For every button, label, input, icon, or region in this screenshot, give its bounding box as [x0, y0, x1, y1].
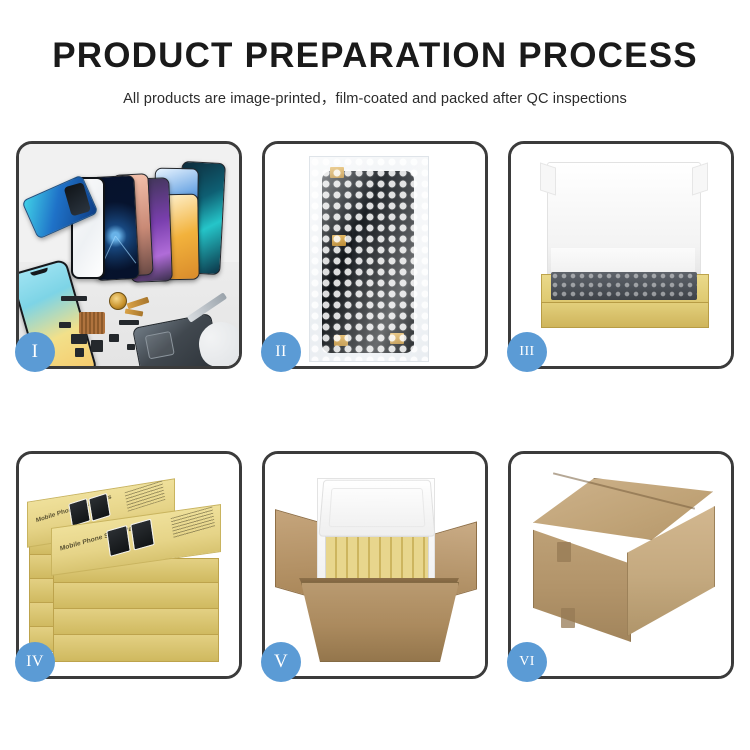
logic-board-part [79, 312, 105, 334]
box-product-image [106, 525, 131, 557]
antenna-strip-part [61, 296, 87, 301]
step-3-image [511, 144, 731, 366]
carton-tape-upper [557, 542, 571, 562]
page-subtitle: All products are image-printed，film-coat… [0, 87, 750, 108]
bubble-wrapped-contents [551, 272, 697, 300]
process-step-6: VI [508, 451, 734, 679]
connector-part [109, 334, 119, 342]
plastic-sheen [310, 157, 428, 361]
step-badge-5: V [261, 642, 301, 682]
kraft-box-front-panel [541, 302, 709, 328]
sim-tray-part [127, 344, 135, 350]
process-step-2: II [262, 141, 488, 369]
step-4-image: Mobile Phone Spare Parts Mobile Phone Sp… [19, 454, 239, 676]
foam-box-lid [318, 480, 435, 537]
step-badge-6: VI [507, 642, 547, 682]
box-edge [53, 608, 219, 636]
camera-module-part [71, 334, 87, 344]
vibration-motor-part [91, 340, 103, 352]
process-step-4: Mobile Phone Spare Parts Mobile Phone Sp… [16, 451, 242, 679]
process-step-3: III [508, 141, 734, 369]
page-header: PRODUCT PREPARATION PROCESS All products… [0, 0, 750, 108]
step-6-image [511, 454, 731, 676]
box-product-image [130, 519, 155, 551]
bubble-wrap-bag [309, 156, 429, 362]
screw-bracket-part [59, 322, 71, 328]
ribbon-part [119, 320, 139, 325]
box-spec-lines [125, 480, 166, 511]
box-edge [53, 634, 219, 662]
process-step-5: V [262, 451, 488, 679]
step-1-image [19, 144, 239, 366]
step-badge-3: III [507, 332, 547, 372]
carton-tape-lower [561, 608, 575, 628]
box-product-image [88, 493, 111, 522]
step-badge-4: IV [15, 642, 55, 682]
page-title: PRODUCT PREPARATION PROCESS [0, 38, 750, 75]
button-part [75, 348, 84, 357]
step-5-image [265, 454, 485, 676]
step-badge-2: II [261, 332, 301, 372]
step-badge-1: I [15, 332, 55, 372]
box-edge [53, 582, 219, 610]
carton-body [301, 582, 459, 662]
box-spec-lines [171, 506, 216, 539]
step-2-image [265, 144, 485, 366]
process-step-grid: I II III [16, 141, 734, 679]
speaker-coil-part [109, 292, 127, 310]
process-step-1: I [16, 141, 242, 369]
